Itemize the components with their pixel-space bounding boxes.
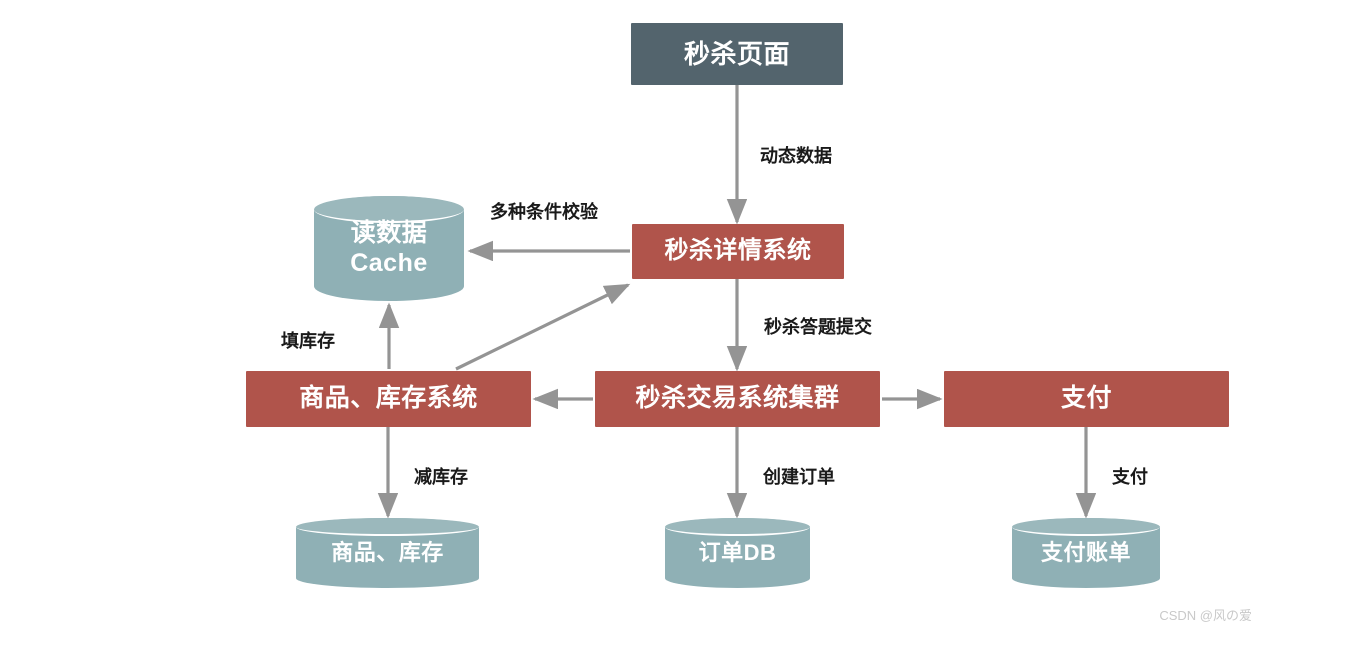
node-read-cache-label: 读数据 Cache	[314, 219, 464, 278]
edge-label-stock-to-cache: 填库存	[281, 327, 335, 353]
node-product-stock-db-label: 商品、库存	[296, 540, 479, 566]
node-payment[interactable]: 支付	[944, 371, 1229, 427]
watermark: CSDN @风の爱	[1159, 605, 1252, 624]
node-product-stock-db[interactable]: 商品、库存	[296, 518, 479, 588]
cylinder-top	[1012, 518, 1160, 536]
node-read-cache[interactable]: 读数据 Cache	[314, 196, 464, 301]
node-payment-bill-db[interactable]: 支付账单	[1012, 518, 1160, 588]
node-read-cache-label-line2: Cache	[314, 249, 464, 279]
cylinder-top	[296, 518, 479, 536]
node-seckill-detail[interactable]: 秒杀详情系统	[632, 224, 844, 279]
node-product-stock-sys[interactable]: 商品、库存系统	[246, 371, 531, 427]
node-seckill-page-label: 秒杀页面	[684, 39, 790, 70]
node-seckill-detail-label: 秒杀详情系统	[665, 237, 812, 265]
edge-label-detail-to-trade: 秒杀答题提交	[764, 313, 872, 339]
diagram-canvas: 秒杀页面 读数据 Cache 秒杀详情系统 商品、库存系统 秒杀交易系统集群 支…	[0, 0, 1354, 648]
node-order-db-label: 订单DB	[665, 540, 810, 566]
node-seckill-trade-cluster-label: 秒杀交易系统集群	[635, 384, 839, 414]
node-seckill-trade-cluster[interactable]: 秒杀交易系统集群	[595, 371, 880, 427]
node-payment-bill-db-label: 支付账单	[1012, 540, 1160, 566]
node-seckill-page[interactable]: 秒杀页面	[631, 23, 843, 85]
edge-label-payment-to-billdb: 支付	[1112, 463, 1148, 489]
node-read-cache-label-line1: 读数据	[314, 219, 464, 249]
edge-label-detail-to-cache: 多种条件校验	[490, 198, 598, 224]
node-order-db[interactable]: 订单DB	[665, 518, 810, 588]
node-payment-label: 支付	[1061, 384, 1112, 414]
edge-label-stock-to-stockdb: 减库存	[414, 463, 468, 489]
node-product-stock-sys-label: 商品、库存系统	[299, 384, 478, 414]
edge-label-trade-to-orderdb: 创建订单	[763, 463, 835, 489]
connector-stock-to-detail	[456, 285, 628, 369]
cylinder-top	[665, 518, 810, 536]
edge-label-page-to-detail: 动态数据	[760, 142, 832, 168]
